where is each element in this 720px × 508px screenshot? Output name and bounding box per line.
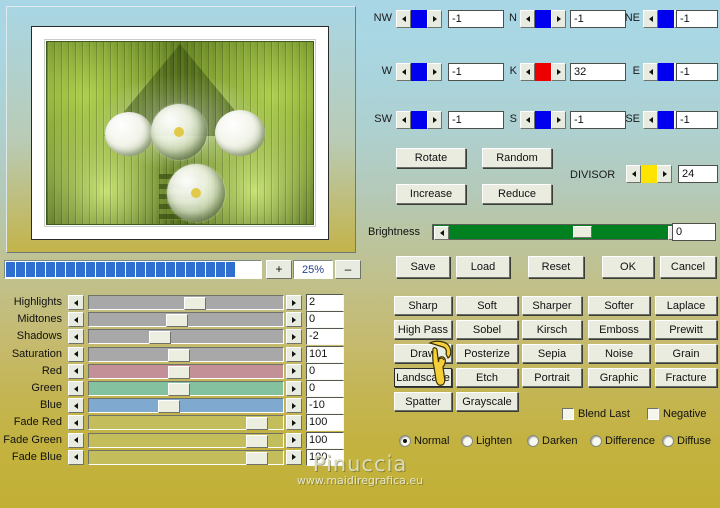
slider-decrement[interactable]	[68, 381, 84, 396]
slider-thumb[interactable]	[168, 349, 190, 362]
zoom-block	[46, 262, 55, 277]
matrix-spinner-nw[interactable]	[396, 10, 442, 28]
matrix-decrement[interactable]	[396, 63, 411, 81]
slider-value[interactable]: 101	[306, 346, 344, 363]
matrix-bar	[658, 111, 674, 129]
slider-value[interactable]: 2	[306, 294, 344, 311]
zoom-block	[196, 262, 205, 277]
matrix-value-ne[interactable]: -1	[676, 10, 718, 28]
zoom-block	[206, 262, 215, 277]
effect-soft-button[interactable]: Soft	[456, 296, 518, 315]
matrix-bar	[411, 63, 427, 81]
matrix-value-se[interactable]: -1	[676, 111, 718, 129]
matrix-decrement[interactable]	[396, 111, 411, 129]
matrix-label-e: E	[618, 65, 640, 77]
increase-button[interactable]: Increase	[396, 184, 466, 204]
slider-label: Green	[0, 382, 62, 394]
radio-label-lighten[interactable]: Lighten	[476, 435, 512, 447]
slider-thumb[interactable]	[158, 400, 180, 413]
slider-increment[interactable]	[286, 312, 302, 327]
slider-decrement[interactable]	[68, 433, 84, 448]
matrix-increment[interactable]	[551, 10, 566, 28]
slider-thumb[interactable]	[168, 366, 190, 379]
slider-value[interactable]: 0	[306, 311, 344, 328]
zoom-block	[186, 262, 195, 277]
zoom-out-button[interactable]: –	[335, 260, 361, 279]
slider-track[interactable]	[88, 295, 284, 310]
zoom-block	[16, 262, 25, 277]
slider-track[interactable]	[88, 433, 284, 448]
brightness-value[interactable]: 0	[672, 223, 716, 241]
matrix-spinner-n[interactable]	[520, 10, 566, 28]
divisor-bar	[641, 165, 657, 183]
slider-value[interactable]: -2	[306, 328, 344, 345]
zoom-in-button[interactable]: +	[266, 260, 292, 279]
image-preview-pane[interactable]	[6, 6, 356, 253]
slider-value[interactable]: 0	[306, 380, 344, 397]
slider-row-midtones: Midtones0	[0, 312, 352, 329]
zoom-block	[146, 262, 155, 277]
matrix-label-nw: NW	[370, 12, 392, 24]
matrix-decrement[interactable]	[396, 10, 411, 28]
zoom-block	[6, 262, 15, 277]
slider-increment[interactable]	[286, 329, 302, 344]
slider-increment[interactable]	[286, 398, 302, 413]
matrix-increment[interactable]	[427, 10, 442, 28]
slider-increment[interactable]	[286, 347, 302, 362]
artwork-flower-right	[215, 110, 265, 156]
matrix-decrement[interactable]	[643, 10, 658, 28]
slider-increment[interactable]	[286, 415, 302, 430]
slider-label: Fade Green	[0, 434, 62, 446]
matrix-bar	[535, 10, 551, 28]
matrix-increment[interactable]	[551, 111, 566, 129]
artwork-image	[46, 41, 314, 225]
slider-increment[interactable]	[286, 295, 302, 310]
matrix-label-se: SE	[618, 113, 640, 125]
matrix-increment[interactable]	[551, 63, 566, 81]
radio-label-normal[interactable]: Normal	[414, 435, 449, 447]
slider-label: Midtones	[0, 313, 62, 325]
radio-darken[interactable]	[527, 435, 539, 447]
checkbox-label-negative[interactable]: Negative	[663, 408, 706, 420]
slider-track[interactable]	[88, 398, 284, 413]
checkbox-label-blend-last[interactable]: Blend Last	[578, 408, 630, 420]
effect-sobel-button[interactable]: Sobel	[456, 320, 518, 339]
slider-decrement[interactable]	[68, 312, 84, 327]
matrix-decrement[interactable]	[520, 111, 535, 129]
slider-row-fade-green: Fade Green100	[0, 433, 352, 450]
effect-sharper-button[interactable]: Sharper	[522, 296, 582, 315]
matrix-spinner-w[interactable]	[396, 63, 442, 81]
effect-draw-button[interactable]: Draw	[394, 344, 452, 363]
matrix-spinner-s[interactable]	[520, 111, 566, 129]
effect-sepia-button[interactable]: Sepia	[522, 344, 582, 363]
checkbox-negative[interactable]	[647, 408, 659, 420]
matrix-bar	[658, 10, 674, 28]
zoom-block	[96, 262, 105, 277]
slider-thumb[interactable]	[149, 331, 171, 344]
brightness-decrement[interactable]	[434, 226, 449, 240]
slider-track[interactable]	[88, 381, 284, 396]
slider-value[interactable]: 100	[306, 414, 344, 431]
signature-watermark: Pinuccia www.maidiregrafica.eu	[0, 452, 720, 487]
matrix-value-e[interactable]: -1	[676, 63, 718, 81]
slider-label: Saturation	[0, 348, 62, 360]
effect-laplace-button[interactable]: Laplace	[655, 296, 717, 315]
effect-grayscale-button[interactable]: Grayscale	[456, 392, 518, 411]
random-button[interactable]: Random	[482, 148, 552, 168]
radio-label-darken[interactable]: Darken	[542, 435, 577, 447]
matrix-bar	[535, 63, 551, 81]
signature-url: www.maidiregrafica.eu	[0, 474, 720, 487]
brightness-label: Brightness	[368, 226, 420, 238]
zoom-block	[226, 262, 235, 277]
radio-diffuse[interactable]	[662, 435, 674, 447]
ok-button[interactable]: OK	[602, 256, 654, 278]
artwork-flower-left	[105, 112, 153, 156]
save-button[interactable]: Save	[396, 256, 450, 278]
effect-high-pass-button[interactable]: High Pass	[394, 320, 452, 339]
effect-prewitt-button[interactable]: Prewitt	[655, 320, 717, 339]
matrix-label-n: N	[495, 12, 517, 24]
zoom-block	[216, 262, 225, 277]
matrix-increment[interactable]	[427, 111, 442, 129]
zoom-bar-row: + 25% –	[4, 260, 356, 279]
slider-decrement[interactable]	[68, 415, 84, 430]
radio-difference[interactable]	[590, 435, 602, 447]
divisor-label: DIVISOR	[570, 169, 615, 181]
zoom-block	[166, 262, 175, 277]
effect-spatter-button[interactable]: Spatter	[394, 392, 452, 411]
radio-lighten[interactable]	[461, 435, 473, 447]
matrix-increment[interactable]	[427, 63, 442, 81]
slider-label: Fade Red	[0, 416, 62, 428]
matrix-decrement[interactable]	[520, 10, 535, 28]
slider-value[interactable]: 100	[306, 432, 344, 449]
slider-row-red: Red0	[0, 364, 352, 381]
matrix-bar	[535, 111, 551, 129]
effect-etch-button[interactable]: Etch	[456, 368, 518, 387]
zoom-block	[136, 262, 145, 277]
zoom-block	[126, 262, 135, 277]
divisor-value[interactable]: 24	[678, 165, 718, 183]
cancel-button[interactable]: Cancel	[660, 256, 716, 278]
effect-posterize-button[interactable]: Posterize	[456, 344, 518, 363]
reduce-button[interactable]: Reduce	[482, 184, 552, 204]
effect-landscape-button[interactable]: Landscape	[394, 368, 452, 387]
slider-track[interactable]	[88, 347, 284, 362]
rotate-button[interactable]: Rotate	[396, 148, 466, 168]
matrix-bar	[411, 111, 427, 129]
slider-thumb[interactable]	[166, 314, 188, 327]
slider-increment[interactable]	[286, 433, 302, 448]
slider-label: Blue	[0, 399, 62, 411]
matrix-decrement[interactable]	[520, 63, 535, 81]
slider-label: Shadows	[0, 330, 62, 342]
effect-grain-button[interactable]: Grain	[655, 344, 717, 363]
zoom-block	[36, 262, 45, 277]
zoom-block	[106, 262, 115, 277]
zoom-level-track[interactable]	[4, 260, 262, 279]
slider-row-blue: Blue-10	[0, 398, 352, 415]
slider-row-shadows: Shadows-2	[0, 329, 352, 346]
slider-track[interactable]	[88, 329, 284, 344]
matrix-spinner-sw[interactable]	[396, 111, 442, 129]
effect-graphic-button[interactable]: Graphic	[588, 368, 650, 387]
slider-value[interactable]: 0	[306, 363, 344, 380]
effect-kirsch-button[interactable]: Kirsch	[522, 320, 582, 339]
slider-thumb[interactable]	[246, 435, 268, 448]
divisor-decrement[interactable]	[626, 165, 641, 183]
slider-thumb[interactable]	[246, 417, 268, 430]
zoom-block	[116, 262, 125, 277]
matrix-decrement[interactable]	[643, 63, 658, 81]
slider-track[interactable]	[88, 312, 284, 327]
slider-row-fade-red: Fade Red100	[0, 415, 352, 432]
brightness-slider-thumb[interactable]	[573, 226, 592, 238]
effect-emboss-button[interactable]: Emboss	[588, 320, 650, 339]
checkbox-blend-last[interactable]	[562, 408, 574, 420]
signature-name: Pinuccia	[0, 452, 720, 476]
slider-thumb[interactable]	[184, 297, 206, 310]
zoom-block	[66, 262, 75, 277]
effect-noise-button[interactable]: Noise	[588, 344, 650, 363]
slider-increment[interactable]	[286, 381, 302, 396]
matrix-label-w: W	[370, 65, 392, 77]
effect-portrait-button[interactable]: Portrait	[522, 368, 582, 387]
slider-increment[interactable]	[286, 364, 302, 379]
dialog-root: + 25% – Highlights2Midtones0Shadows-2Sat…	[0, 0, 720, 508]
slider-thumb[interactable]	[168, 383, 190, 396]
slider-track[interactable]	[88, 415, 284, 430]
slider-decrement[interactable]	[68, 347, 84, 362]
effect-softer-button[interactable]: Softer	[588, 296, 650, 315]
matrix-label-ne: NE	[618, 12, 640, 24]
effect-fracture-button[interactable]: Fracture	[655, 368, 717, 387]
artwork-orb-upper	[151, 104, 207, 160]
radio-normal[interactable]	[399, 435, 411, 447]
zoom-block	[86, 262, 95, 277]
matrix-bar	[411, 10, 427, 28]
slider-row-saturation: Saturation101	[0, 347, 352, 364]
divisor-spinner[interactable]	[626, 165, 672, 183]
zoom-block	[156, 262, 165, 277]
matrix-label-sw: SW	[370, 113, 392, 125]
matrix-decrement[interactable]	[643, 111, 658, 129]
slider-decrement[interactable]	[68, 329, 84, 344]
matrix-spinner-k[interactable]	[520, 63, 566, 81]
matrix-bar	[658, 63, 674, 81]
slider-label: Red	[0, 365, 62, 377]
effect-sharp-button[interactable]: Sharp	[394, 296, 452, 315]
load-button[interactable]: Load	[456, 256, 510, 278]
zoom-block	[76, 262, 85, 277]
slider-track[interactable]	[88, 364, 284, 379]
radio-label-difference[interactable]: Difference	[605, 435, 655, 447]
zoom-block	[56, 262, 65, 277]
divisor-increment[interactable]	[657, 165, 672, 183]
radio-label-diffuse[interactable]: Diffuse	[677, 435, 711, 447]
matrix-label-k: K	[495, 65, 517, 77]
zoom-block	[176, 262, 185, 277]
zoom-block	[26, 262, 35, 277]
reset-button[interactable]: Reset	[528, 256, 584, 278]
brightness-slider-track[interactable]	[432, 224, 685, 240]
slider-decrement[interactable]	[68, 295, 84, 310]
zoom-level-display: 25%	[293, 260, 333, 279]
slider-label: Highlights	[0, 296, 62, 308]
artwork-orb-lower	[167, 164, 225, 222]
slider-decrement[interactable]	[68, 364, 84, 379]
slider-row-green: Green0	[0, 381, 352, 398]
matrix-label-s: S	[495, 113, 517, 125]
preview-artwork	[32, 27, 328, 239]
slider-decrement[interactable]	[68, 398, 84, 413]
slider-value[interactable]: -10	[306, 397, 344, 414]
slider-row-highlights: Highlights2	[0, 295, 352, 312]
